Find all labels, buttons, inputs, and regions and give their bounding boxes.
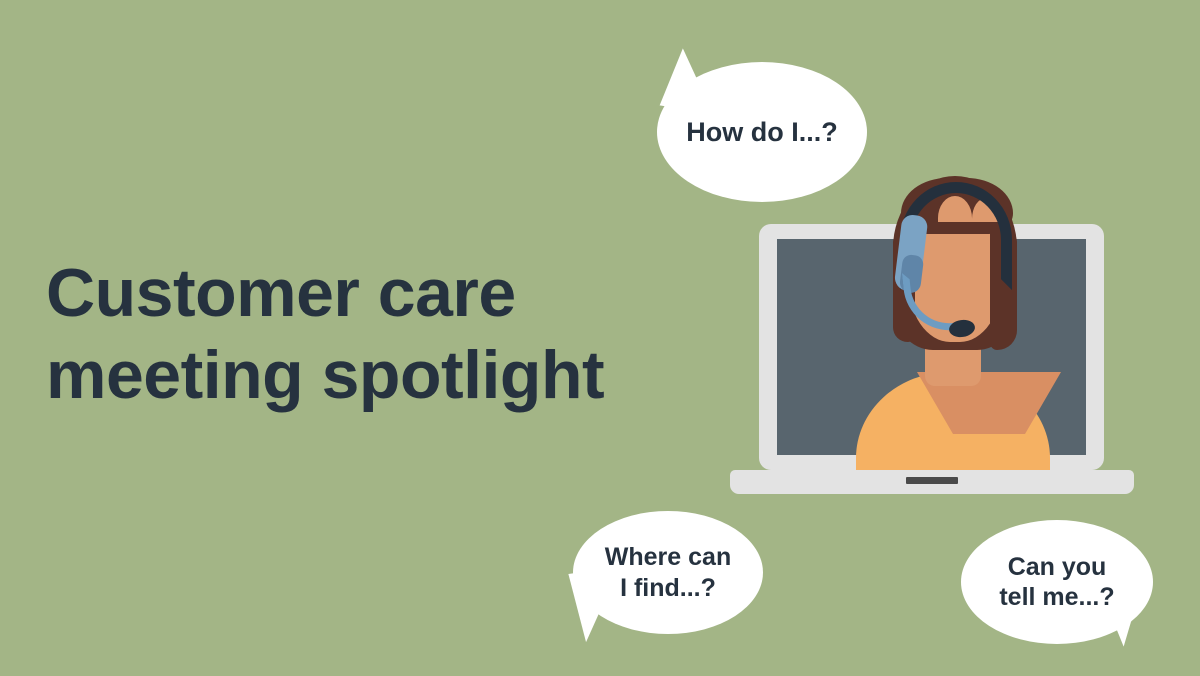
speech-bubble-where: Where can I find...? — [573, 511, 763, 634]
speech-bubble-where-text: Where can I find...? — [595, 542, 741, 603]
speech-bubble-how-text: How do I...? — [676, 116, 847, 149]
speech-bubble-how: How do I...? — [657, 62, 867, 202]
speech-bubble-can-text: Can you tell me...? — [989, 552, 1124, 613]
page-title: Customer care meeting spotlight — [46, 252, 666, 416]
speech-bubble-can: Can you tell me...? — [961, 520, 1153, 644]
laptop-trackpad — [906, 477, 958, 484]
poster-canvas: Customer care meeting spotlight — [0, 0, 1200, 676]
